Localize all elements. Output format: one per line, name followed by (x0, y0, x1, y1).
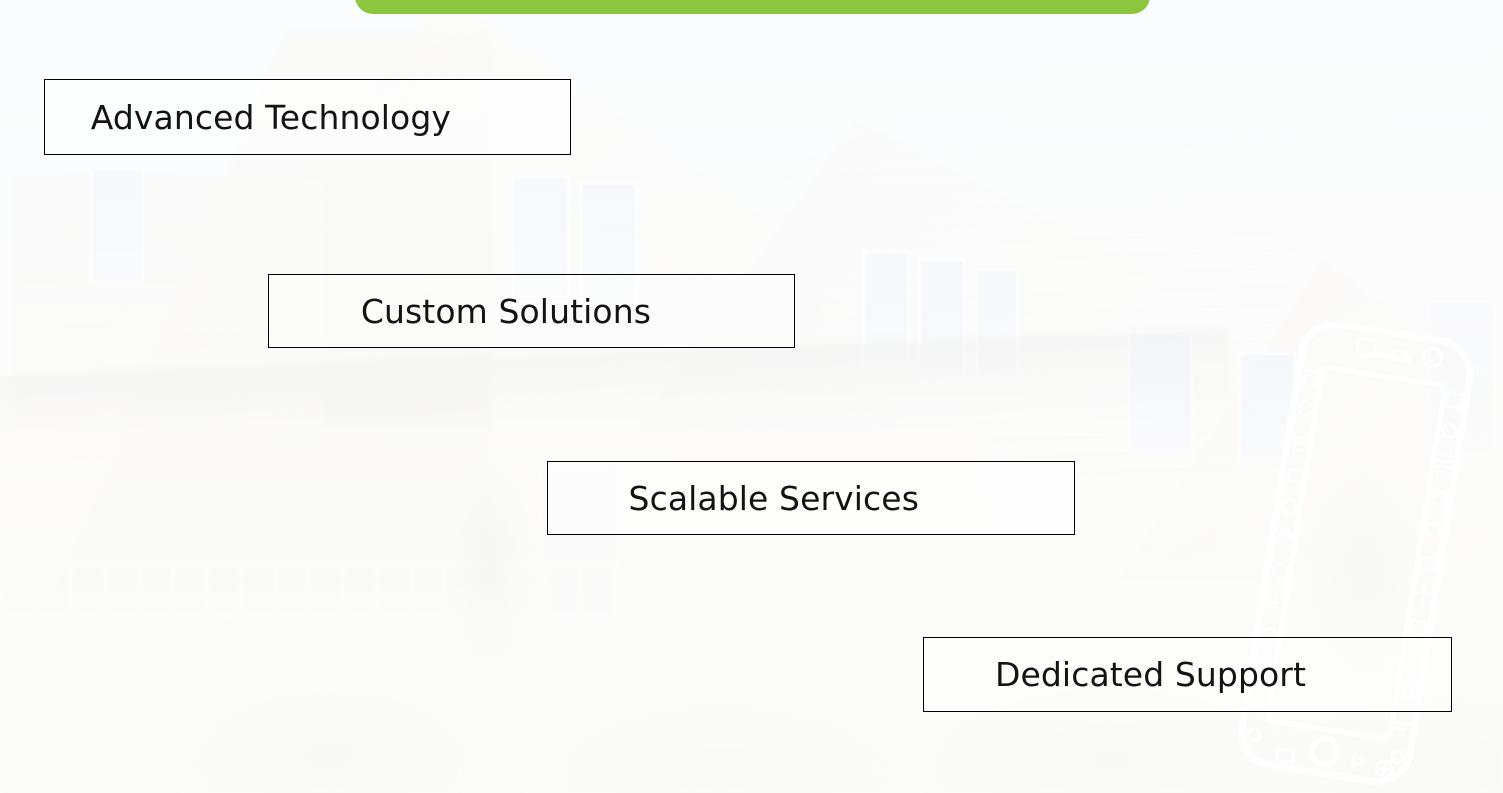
feature-box-label: Dedicated Support (995, 658, 1451, 691)
feature-box-dedicated-support[interactable]: Dedicated Support (923, 637, 1452, 712)
feature-box-label: Custom Solutions (361, 295, 794, 328)
slide-canvas: Advanced Technology Custom Solutions Sca… (0, 0, 1503, 793)
feature-box-label: Advanced Technology (91, 101, 570, 134)
feature-box-label: Scalable Services (629, 482, 1074, 515)
feature-box-scalable-services[interactable]: Scalable Services (547, 461, 1075, 535)
feature-box-custom-solutions[interactable]: Custom Solutions (268, 274, 795, 348)
feature-box-advanced-technology[interactable]: Advanced Technology (44, 79, 571, 155)
green-accent-bar (355, 0, 1150, 14)
